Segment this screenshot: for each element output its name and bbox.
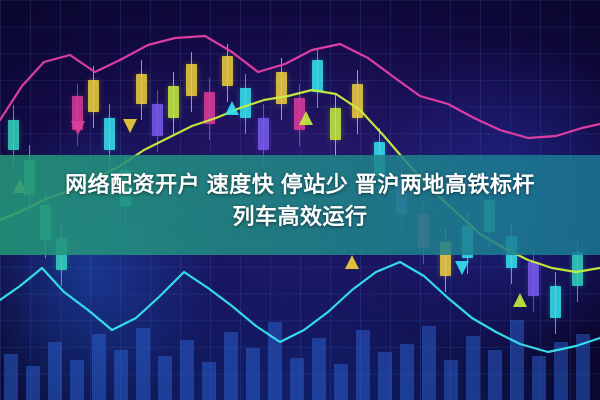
- caption-line-2: 列车高效运行: [0, 201, 600, 233]
- marker-triangle-up: [513, 293, 527, 307]
- caption-text-block: 网络配资开户 速度快 停站少 晋沪两地高铁标杆 列车高效运行: [0, 169, 600, 269]
- caption-line-1: 网络配资开户 速度快 停站少 晋沪两地高铁标杆: [0, 169, 600, 201]
- marker-triangle-down: [123, 119, 137, 133]
- stock-chart-banner: 网络配资开户 速度快 停站少 晋沪两地高铁标杆 列车高效运行: [0, 0, 600, 400]
- marker-triangle-down: [71, 121, 85, 135]
- marker-triangle-up: [299, 111, 313, 125]
- marker-triangle-up: [225, 101, 239, 115]
